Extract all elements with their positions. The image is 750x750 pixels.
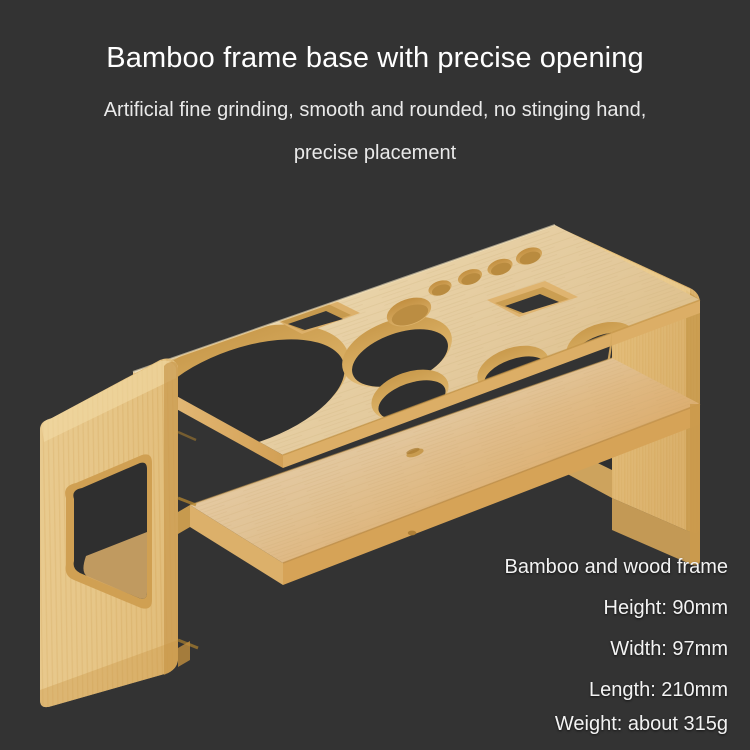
spec-width: Width: 97mm <box>610 638 728 661</box>
left-side-panel <box>40 358 178 707</box>
spec-height: Height: 90mm <box>604 597 729 620</box>
right-lower-leg <box>690 404 700 565</box>
spec-material: Bamboo and wood frame <box>505 556 728 579</box>
product-image-canvas: Bamboo frame base with precise opening A… <box>0 0 750 750</box>
spec-length: Length: 210mm <box>589 679 728 702</box>
spec-weight: Weight: about 315g <box>555 713 728 736</box>
